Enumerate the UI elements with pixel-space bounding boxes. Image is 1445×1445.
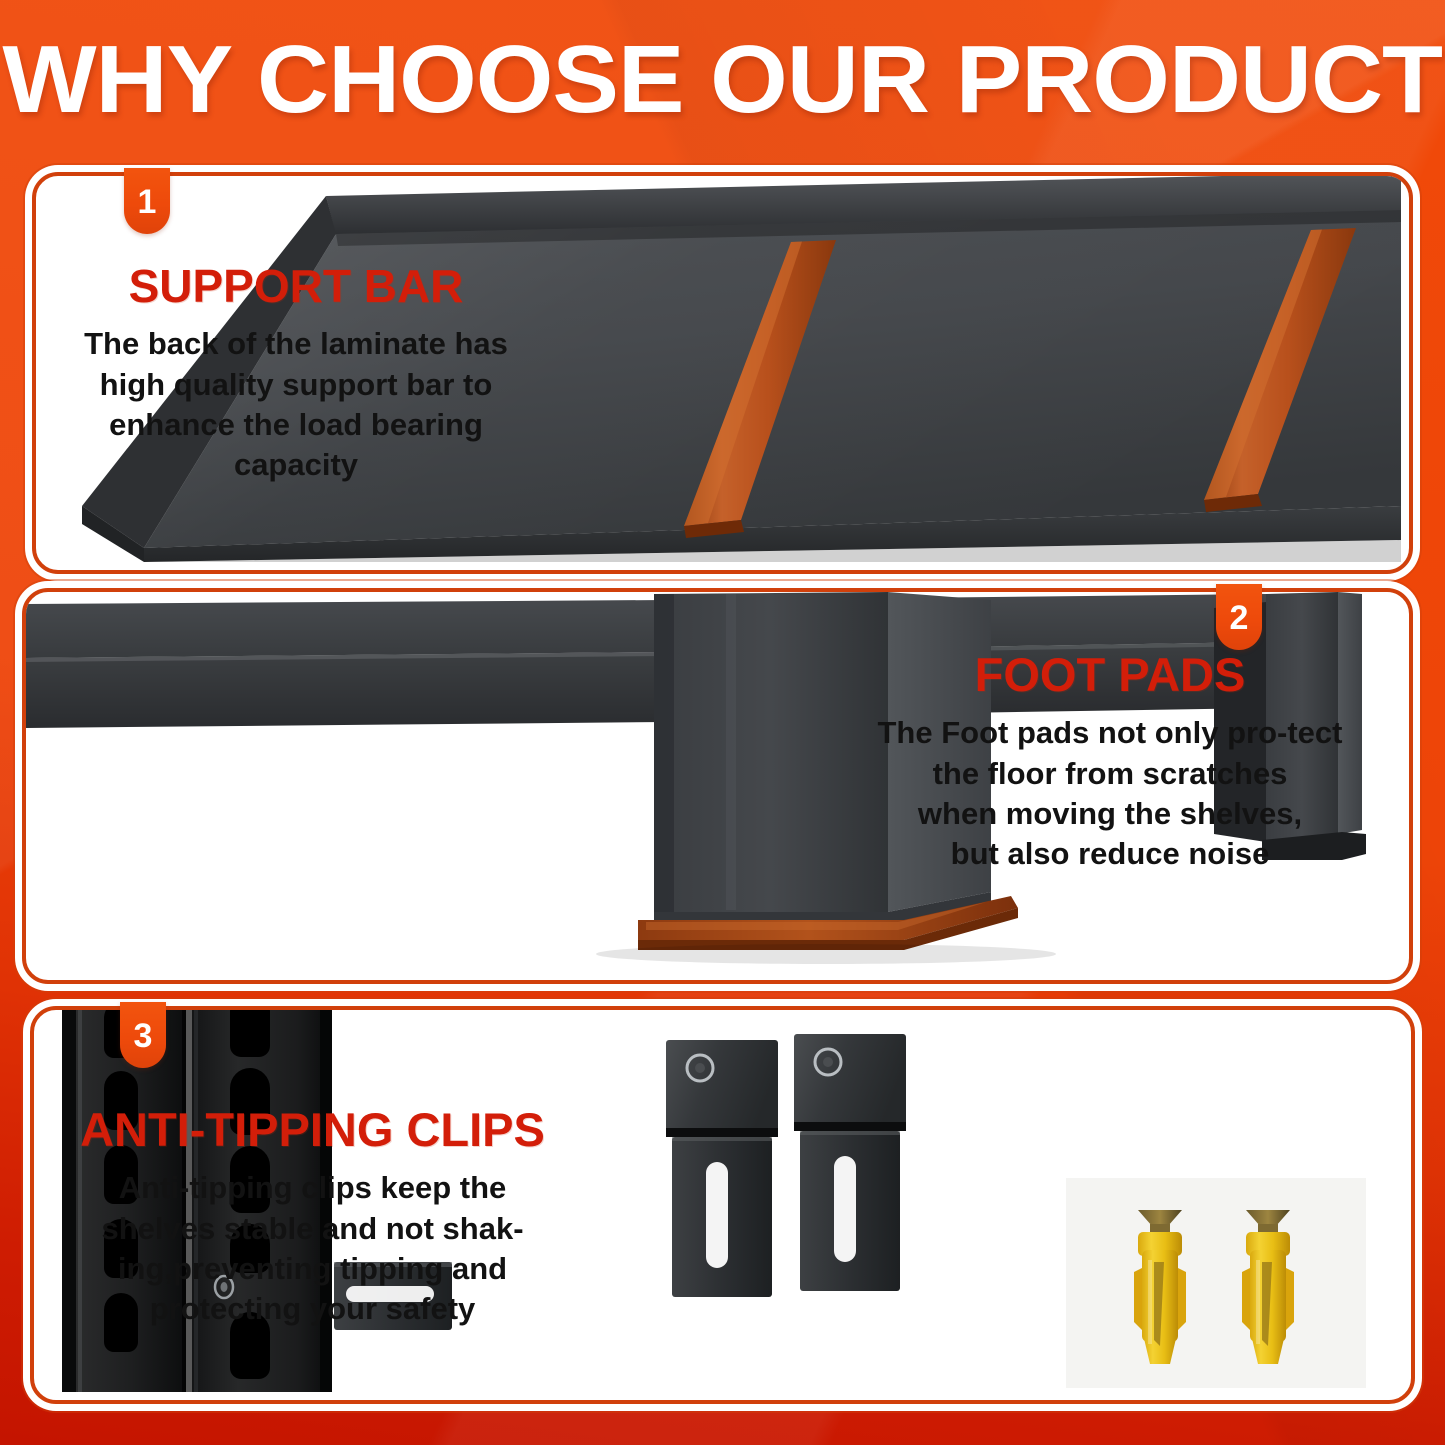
feature-1-line-1: The back of the laminate has: [46, 324, 546, 364]
feature-description-2: The Foot pads not only pro-tect the floo…: [810, 713, 1410, 874]
feature-description-1: The back of the laminate has high qualit…: [46, 324, 546, 485]
feature-1-line-2: high quality support bar to: [46, 365, 546, 405]
feature-badge-1: 1: [124, 168, 170, 234]
feature-2-line-3: when moving the shelves,: [810, 794, 1410, 834]
feature-badge-2-number: 2: [1230, 599, 1249, 638]
feature-description-3: Anti-tipping clips keep the shelves stab…: [40, 1168, 585, 1329]
feature-3-line-2: shelves stable and not shak-: [40, 1209, 585, 1249]
feature-badge-3-number: 3: [134, 1017, 153, 1056]
feature-2-line-1: The Foot pads not only pro-tect: [810, 713, 1410, 753]
infographic-canvas: WHY CHOOSE OUR PRODUCT: [0, 0, 1445, 1445]
feature-3-line-4: protecting your safety: [40, 1289, 585, 1329]
feature-badge-2: 2: [1216, 584, 1262, 650]
feature-text-1: SUPPORT BAR The back of the laminate has…: [46, 262, 546, 485]
feature-1-line-4: capacity: [46, 445, 546, 485]
feature-title-1: SUPPORT BAR: [46, 262, 546, 310]
header-banner: WHY CHOOSE OUR PRODUCT: [0, 0, 1445, 160]
feature-1-line-3: enhance the load bearing: [46, 405, 546, 445]
feature-2-line-2: the floor from scratches: [810, 754, 1410, 794]
feature-2-line-4: but also reduce noise: [810, 834, 1410, 874]
page-title: WHY CHOOSE OUR PRODUCT: [3, 32, 1443, 128]
feature-text-2: FOOT PADS The Foot pads not only pro-tec…: [810, 650, 1410, 875]
feature-3-line-1: Anti-tipping clips keep the: [40, 1168, 585, 1208]
feature-title-2: FOOT PADS: [810, 650, 1410, 699]
feature-badge-1-number: 1: [138, 183, 157, 222]
feature-badge-3: 3: [120, 1002, 166, 1068]
feature-title-3: ANTI-TIPPING CLIPS: [40, 1105, 585, 1154]
feature-text-3: ANTI-TIPPING CLIPS Anti-tipping clips ke…: [40, 1105, 585, 1330]
feature-3-line-3: ing,preventing tipping and: [40, 1249, 585, 1289]
